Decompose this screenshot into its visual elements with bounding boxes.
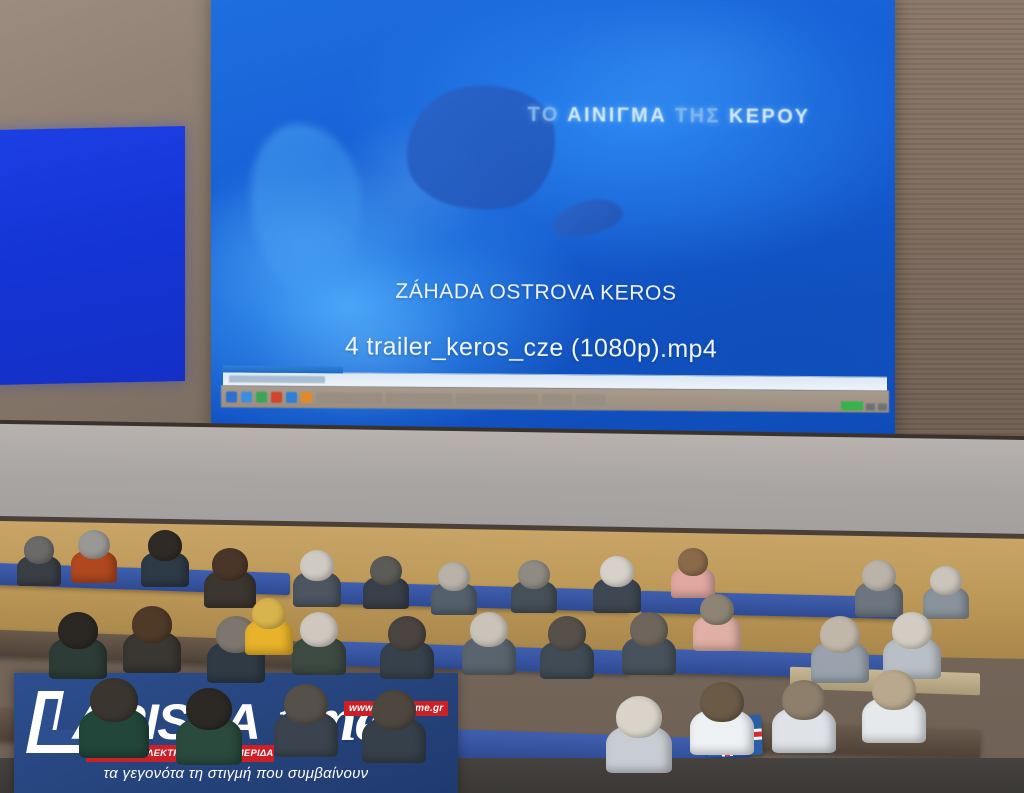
person-head <box>782 680 826 720</box>
person-head <box>470 612 508 647</box>
person-head <box>700 594 734 625</box>
person-head <box>90 678 138 722</box>
person-head <box>148 530 182 561</box>
person-head <box>930 566 962 595</box>
person-head <box>212 548 248 581</box>
audience-person <box>300 612 338 677</box>
audience-person <box>252 598 286 656</box>
title-word-3: ΤΗΣ <box>675 105 721 127</box>
audience-person <box>90 678 138 760</box>
audience-person <box>678 548 708 599</box>
taskbar-task-4[interactable] <box>542 393 572 404</box>
person-head <box>630 612 668 647</box>
taskbar-task-5[interactable] <box>576 394 606 405</box>
audience-person <box>470 612 508 677</box>
title-word-1: ΤΟ <box>528 104 560 126</box>
person-head <box>700 682 744 722</box>
taskbar-task-2[interactable] <box>386 392 452 404</box>
person-head <box>862 560 896 591</box>
taskbar-icon-explorer[interactable] <box>256 391 267 402</box>
audience-person <box>58 612 98 680</box>
person-head <box>892 612 932 649</box>
taskbar-icon-app-red[interactable] <box>271 391 282 402</box>
audience-person <box>132 606 172 674</box>
person-head <box>820 616 860 653</box>
audience-person <box>24 536 54 587</box>
audience-person <box>600 556 634 614</box>
tray-status-indicator <box>841 401 863 410</box>
window-title-bar <box>223 365 343 373</box>
person-head <box>186 688 232 730</box>
audience-person <box>782 680 826 755</box>
audience-person <box>518 560 550 614</box>
audience-person <box>78 530 110 584</box>
person-head <box>438 562 470 591</box>
person-head <box>370 556 402 585</box>
slide-file-name: 4 trailer_keros_cze (1080p).mp4 <box>211 331 873 365</box>
tray-icon-network[interactable] <box>866 403 875 410</box>
person-head <box>78 530 110 559</box>
person-head <box>252 598 286 629</box>
screenshot-root: ΤΟ ΑΙΝΙΓΜΑ ΤΗΣ ΚΕΡΟΥ ZÁHADA OSTROVA KERO… <box>0 0 1024 793</box>
audience-person <box>820 616 860 684</box>
audience-person <box>548 616 586 681</box>
taskbar-icon-browser[interactable] <box>286 391 297 402</box>
person-head <box>372 690 416 730</box>
taskbar-icon-media[interactable] <box>301 392 312 403</box>
wood-wall-panel-right <box>893 0 1024 468</box>
taskbar-task-1[interactable] <box>316 392 382 404</box>
audience-person <box>930 566 962 620</box>
person-head <box>388 616 426 651</box>
audience-person <box>148 530 182 588</box>
audience-person <box>862 560 896 618</box>
audience-person <box>370 556 402 610</box>
person-head <box>548 616 586 651</box>
person-head <box>58 612 98 649</box>
person-head <box>300 612 338 647</box>
system-tray[interactable] <box>825 386 887 410</box>
person-head <box>284 684 328 724</box>
taskbar-icon-search[interactable] <box>241 391 252 402</box>
person-head <box>518 560 550 589</box>
audience-person <box>616 696 662 774</box>
logo-tagline: τα γεγονότα τη στιγμή που συμβαίνουν <box>14 765 458 782</box>
audience-person <box>186 688 232 766</box>
projection-screen: ΤΟ ΑΙΝΙΓΜΑ ΤΗΣ ΚΕΡΟΥ ZÁHADA OSTROVA KERO… <box>211 0 895 435</box>
tray-icon-volume[interactable] <box>878 404 887 411</box>
secondary-blue-projection-panel <box>0 126 185 385</box>
title-word-2: ΑΙΝΙΓΜΑ <box>567 104 667 127</box>
title-word-4: ΚΕΡΟΥ <box>729 105 810 128</box>
person-head <box>616 696 662 738</box>
audience-person <box>372 690 416 765</box>
person-head <box>300 550 334 581</box>
audience-person <box>872 670 916 745</box>
person-head <box>24 536 54 564</box>
address-bar[interactable] <box>229 375 325 383</box>
taskbar-task-3[interactable] <box>456 393 538 405</box>
audience-person <box>212 548 248 609</box>
audience-person <box>438 562 470 616</box>
audience-person <box>700 594 734 652</box>
person-head <box>678 548 708 576</box>
audience-person <box>284 684 328 759</box>
taskbar-icon-start[interactable] <box>226 391 237 402</box>
person-head <box>872 670 916 710</box>
audience-person <box>388 616 426 681</box>
audience-person <box>630 612 668 677</box>
audience-person <box>700 682 744 757</box>
person-head <box>132 606 172 643</box>
audience-person <box>300 550 334 608</box>
projected-slide: ΤΟ ΑΙΝΙΓΜΑ ΤΗΣ ΚΕΡΟΥ ZÁHADA OSTROVA KERO… <box>211 0 895 435</box>
person-head <box>600 556 634 587</box>
